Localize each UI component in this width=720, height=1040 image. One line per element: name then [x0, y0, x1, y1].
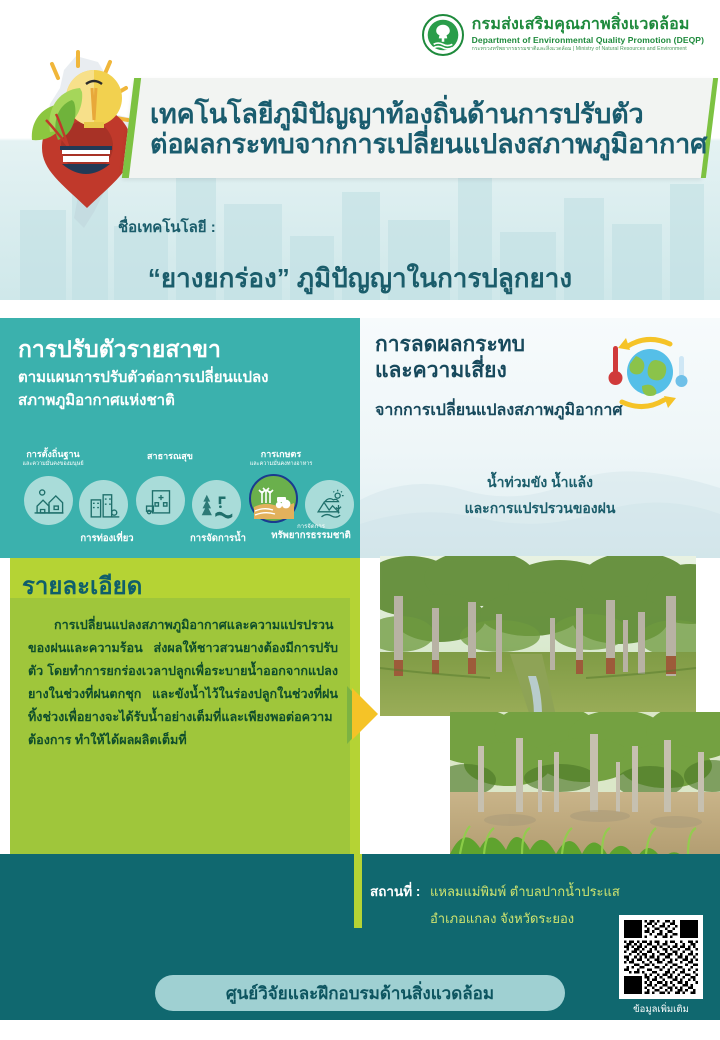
adaptation-panel-subheading: ตามแผนการปรับตัวต่อการเปลี่ยนแปลง สภาพภู… — [18, 366, 348, 413]
impact-heading-line-2: และความเสี่ยง — [375, 358, 525, 384]
thermometer-cold-icon — [676, 356, 688, 387]
poster-root: กรมส่งเสริมคุณภาพสิ่งแวดล้อม Department … — [0, 0, 720, 1040]
sector-label-public-health: สาธารณสุข — [134, 452, 206, 462]
village-houses-icon — [32, 484, 66, 518]
adaptation-sub-line-1: ตามแผนการปรับตัวต่อการเปลี่ยนแปลง — [18, 369, 269, 386]
adaptation-sub-line-2: สภาพภูมิอากาศแห่งชาติ — [18, 392, 175, 409]
qr-caption: ข้อมูลเพิ่มเติม — [617, 1002, 705, 1017]
hospital-icon — [144, 484, 178, 518]
impact-panel-heading: การลดผลกระทบ และความเสี่ยง — [375, 332, 525, 385]
poster-title: เทคโนโลยีภูมิปัญญาท้องถิ่นด้านการปรับตัว… — [150, 86, 710, 172]
place-label: สถานที่ : — [370, 880, 420, 902]
sector-icon-tourism[interactable] — [79, 480, 128, 529]
mountain-forest-icon — [313, 488, 347, 522]
qr-code-icon[interactable] — [619, 915, 703, 999]
sector-label-water-management: การจัดการน้ำ — [178, 534, 258, 544]
details-body-text: การเปลี่ยนแปลงสภาพภูมิอากาศและความแปรปรว… — [28, 614, 338, 751]
sector-label-tourism: การท่องเที่ยว — [68, 534, 146, 544]
sector-label-settlement: การตั้งถิ่นฐาน และความมั่นคงของมนุษย์ — [10, 450, 96, 467]
deqp-thai-name: กรมส่งเสริมคุณภาพสิ่งแวดล้อม — [472, 17, 704, 34]
sector-icon-water-management[interactable] — [192, 480, 241, 529]
sector-icon-row: การตั้งถิ่นฐาน และความมั่นคงของมนุษย์ สา… — [6, 450, 356, 555]
city-tourism-icon — [87, 488, 121, 522]
deqp-logo: กรมส่งเสริมคุณภาพสิ่งแวดล้อม Department … — [422, 14, 704, 56]
details-heading: รายละเอียด — [22, 566, 142, 605]
title-line-1: เทคโนโลยีภูมิปัญญาท้องถิ่นด้านการปรับตัว — [150, 99, 710, 129]
adaptation-panel-heading: การปรับตัวรายสาขา — [18, 332, 221, 368]
sector-icon-agriculture[interactable] — [249, 474, 298, 523]
photo-rubber-plantation-furrow — [380, 556, 696, 716]
play-arrow-right-icon — [352, 688, 378, 740]
sector-icon-settlement[interactable] — [24, 476, 73, 525]
photo-rubber-plantation-grove — [450, 712, 720, 854]
organization-pill-label: ศูนย์วิจัยและฝึกอบรมด้านสิ่งแวดล้อม — [226, 980, 494, 1007]
thermometer-hot-icon — [609, 346, 623, 385]
impact-heading-line-1: การลดผลกระทบ — [375, 332, 525, 358]
poster-header: กรมส่งเสริมคุณภาพสิ่งแวดล้อม Department … — [0, 0, 720, 300]
globe-thermometer-icon — [600, 330, 692, 416]
deqp-english-name: Department of Environmental Quality Prom… — [472, 36, 704, 45]
footer-accent-bar — [354, 854, 362, 928]
wheat-tractor-icon — [252, 477, 296, 521]
river-faucet-icon — [200, 488, 234, 522]
deqp-ministry-line: กระทรวงทรัพยากรธรรมชาติและสิ่งแวดล้อม | … — [472, 47, 704, 52]
bottom-white-strip — [0, 1020, 720, 1040]
deqp-tree-emblem-icon — [422, 14, 464, 56]
place-line-1: แหลมแม่พิมพ์ ตำบลปากน้ำประแส — [430, 881, 620, 902]
risk-line-2: และการแปรปรวนของฝน — [360, 498, 720, 520]
sector-icon-public-health[interactable] — [136, 476, 185, 525]
place-line-2: อำเภอแกลง จังหวัดระยอง — [430, 908, 574, 929]
title-line-2: ต่อผลกระทบจากการเปลี่ยนแปลงสภาพภูมิอากาศ — [150, 129, 710, 159]
risk-line-1: น้ำท่วมขัง น้ำแล้ง — [360, 472, 720, 494]
sector-label-agriculture: การเกษตร และความมั่นคงทางอาหาร — [234, 450, 328, 467]
technology-name-label: ชื่อเทคโนโลยี : — [118, 215, 216, 239]
technology-name-value: “ยางยกร่อง” ภูมิปัญญาในการปลูกยาง — [0, 258, 720, 299]
impact-panel-subheading: จากการเปลี่ยนแปลงสภาพภูมิอากาศ — [375, 398, 623, 423]
sector-label-natural-resources: การจัดการ ทรัพยากรธรรมชาติ — [264, 524, 358, 541]
sector-icon-natural-resources[interactable] — [305, 480, 354, 529]
organization-pill[interactable]: ศูนย์วิจัยและฝึกอบรมด้านสิ่งแวดล้อม — [155, 975, 565, 1011]
